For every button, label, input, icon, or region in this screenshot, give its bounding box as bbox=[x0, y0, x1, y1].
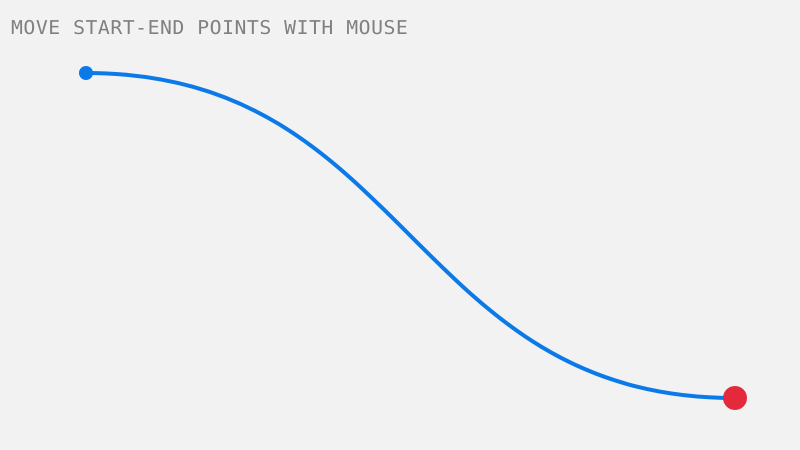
start-point-handle[interactable] bbox=[79, 66, 93, 80]
bezier-curve-svg bbox=[0, 0, 800, 450]
end-point-handle[interactable] bbox=[723, 386, 747, 410]
bezier-curve-path bbox=[86, 73, 735, 398]
curve-editor-canvas: MOVE START-END POINTS WITH MOUSE bbox=[0, 0, 800, 450]
